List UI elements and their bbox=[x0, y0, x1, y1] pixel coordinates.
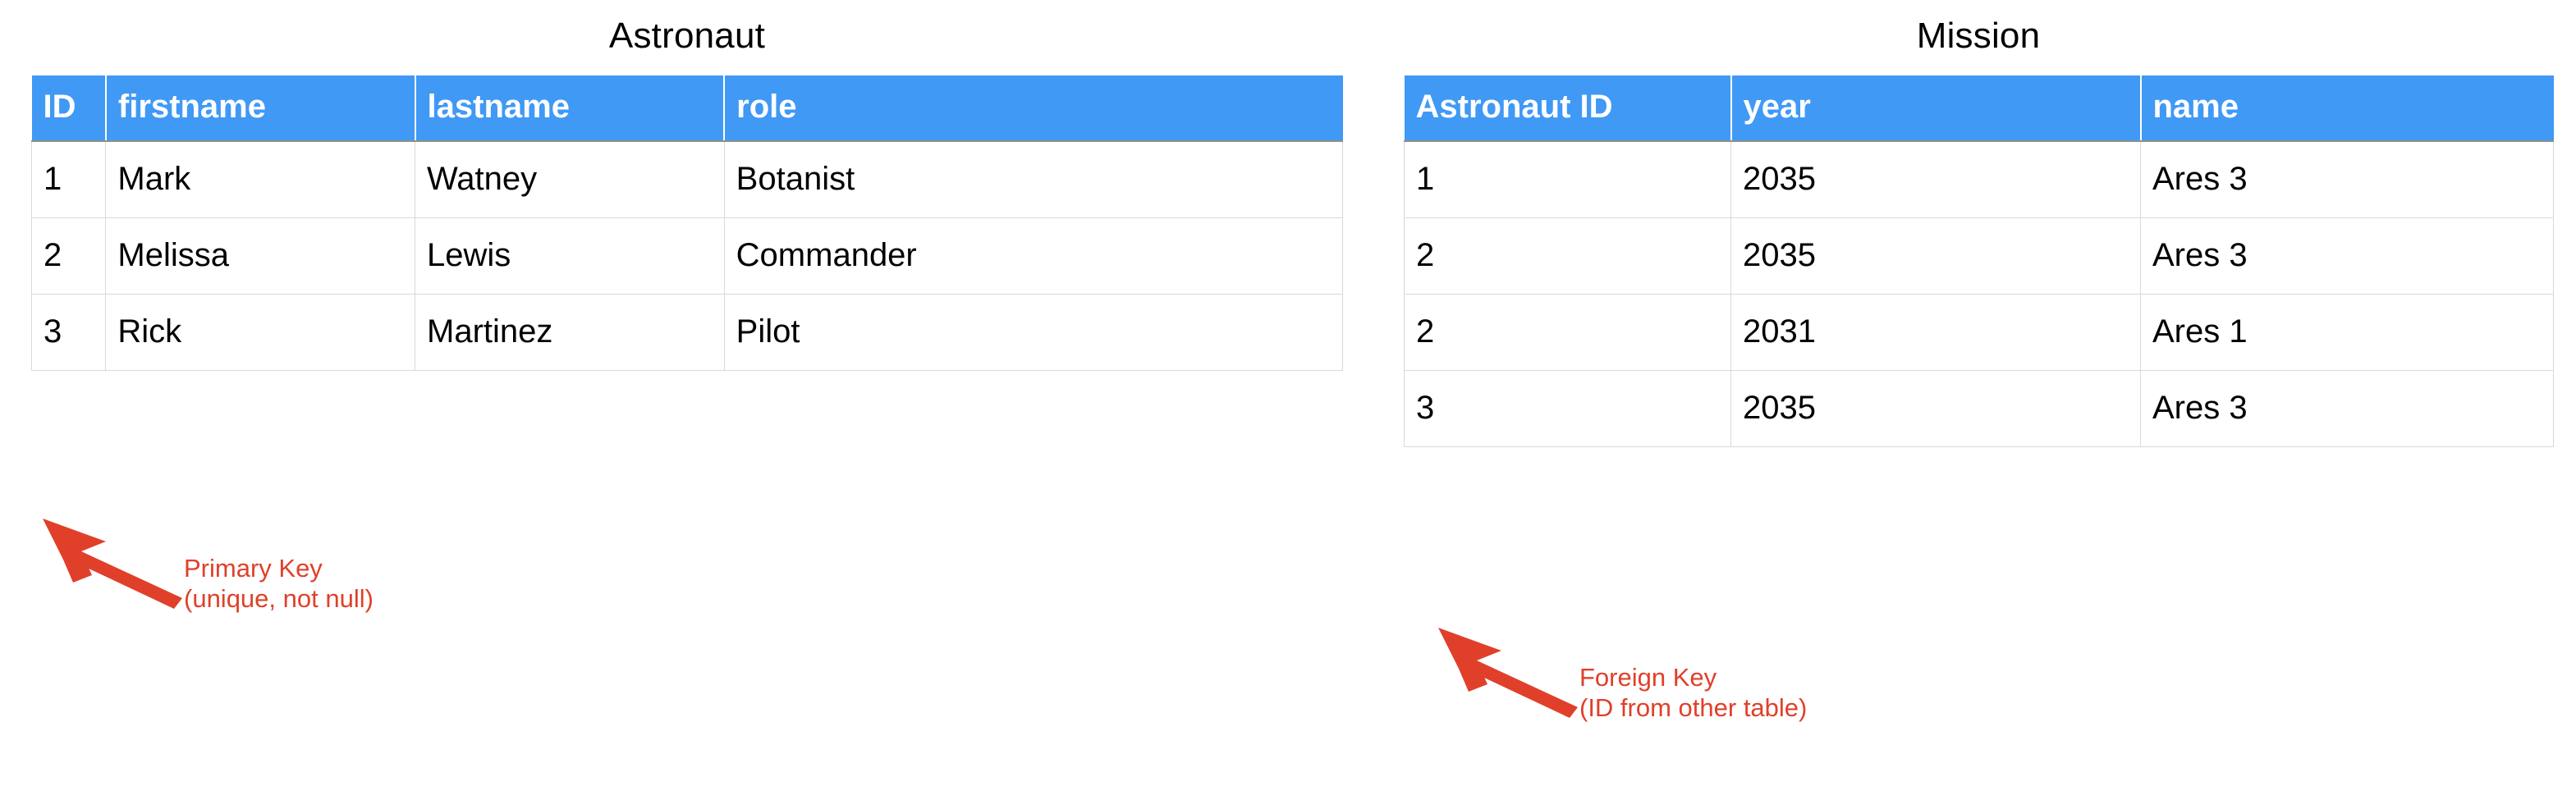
cell-role: Botanist bbox=[724, 141, 1342, 218]
foreign-key-line-2: (ID from other table) bbox=[1579, 693, 1807, 724]
astronaut-table-title: Astronaut bbox=[31, 18, 1343, 54]
cell-name: Ares 1 bbox=[2141, 295, 2554, 371]
column-header-firstname[interactable]: firstname bbox=[106, 75, 415, 141]
cell-astronaut-id: 3 bbox=[1405, 371, 1731, 447]
mission-table-title: Mission bbox=[1404, 18, 2553, 54]
mission-table-block: Mission Astronaut ID year name 1 2035 Ar… bbox=[1404, 18, 2553, 447]
cell-astronaut-id: 2 bbox=[1405, 295, 1731, 371]
cell-year: 2035 bbox=[1731, 371, 2141, 447]
table-row: 3 2035 Ares 3 bbox=[1405, 371, 2554, 447]
cell-role: Commander bbox=[724, 218, 1342, 295]
cell-firstname: Rick bbox=[106, 295, 415, 371]
cell-lastname: Watney bbox=[415, 141, 725, 218]
cell-role: Pilot bbox=[724, 295, 1342, 371]
cell-firstname: Melissa bbox=[106, 218, 415, 295]
column-header-year[interactable]: year bbox=[1731, 75, 2141, 141]
cell-year: 2031 bbox=[1731, 295, 2141, 371]
table-header-row: ID firstname lastname role bbox=[32, 75, 1343, 141]
astronaut-table-block: Astronaut ID firstname lastname role 1 M… bbox=[31, 18, 1343, 371]
cell-year: 2035 bbox=[1731, 141, 2141, 218]
table-header-row: Astronaut ID year name bbox=[1405, 75, 2554, 141]
cell-name: Ares 3 bbox=[2141, 141, 2554, 218]
cell-astronaut-id: 1 bbox=[1405, 141, 1731, 218]
foreign-key-annotation: Foreign Key (ID from other table) bbox=[1579, 663, 1807, 723]
cell-name: Ares 3 bbox=[2141, 371, 2554, 447]
cell-lastname: Lewis bbox=[415, 218, 725, 295]
foreign-key-arrow-icon bbox=[1438, 628, 1594, 718]
table-row: 1 Mark Watney Botanist bbox=[32, 141, 1343, 218]
cell-id: 2 bbox=[32, 218, 106, 295]
column-header-id[interactable]: ID bbox=[32, 75, 106, 141]
table-row: 3 Rick Martinez Pilot bbox=[32, 295, 1343, 371]
cell-firstname: Mark bbox=[106, 141, 415, 218]
table-row: 2 2031 Ares 1 bbox=[1405, 295, 2554, 371]
primary-key-line-1: Primary Key bbox=[184, 554, 374, 584]
primary-key-arrow-icon bbox=[43, 519, 199, 609]
primary-key-annotation: Primary Key (unique, not null) bbox=[184, 554, 374, 614]
primary-key-line-2: (unique, not null) bbox=[184, 584, 374, 615]
astronaut-table: ID firstname lastname role 1 Mark Watney… bbox=[31, 75, 1343, 371]
column-header-name[interactable]: name bbox=[2141, 75, 2554, 141]
foreign-key-line-1: Foreign Key bbox=[1579, 663, 1807, 693]
cell-astronaut-id: 2 bbox=[1405, 218, 1731, 295]
cell-id: 1 bbox=[32, 141, 106, 218]
column-header-lastname[interactable]: lastname bbox=[415, 75, 725, 141]
cell-id: 3 bbox=[32, 295, 106, 371]
table-row: 2 2035 Ares 3 bbox=[1405, 218, 2554, 295]
column-header-role[interactable]: role bbox=[724, 75, 1342, 141]
cell-name: Ares 3 bbox=[2141, 218, 2554, 295]
cell-year: 2035 bbox=[1731, 218, 2141, 295]
table-row: 2 Melissa Lewis Commander bbox=[32, 218, 1343, 295]
column-header-astronaut-id[interactable]: Astronaut ID bbox=[1405, 75, 1731, 141]
mission-table: Astronaut ID year name 1 2035 Ares 3 2 2… bbox=[1404, 75, 2554, 447]
cell-lastname: Martinez bbox=[415, 295, 725, 371]
table-row: 1 2035 Ares 3 bbox=[1405, 141, 2554, 218]
